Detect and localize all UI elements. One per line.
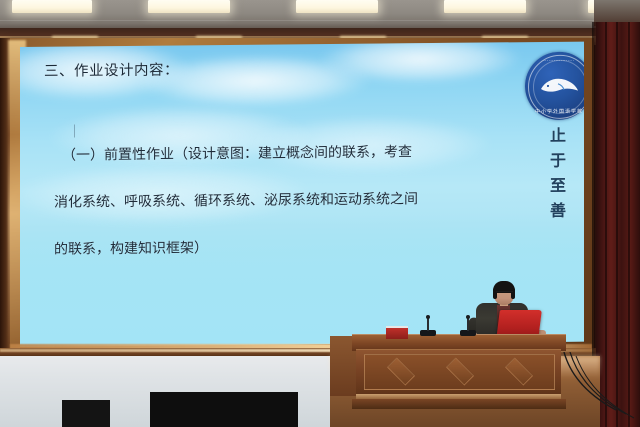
floor-cables — [560, 352, 640, 427]
emblem-top-text: ·················· — [525, 57, 584, 63]
motto-left: 止于至善 — [544, 127, 568, 227]
microphone-stem — [467, 317, 469, 331]
ceiling-seam — [0, 20, 640, 21]
slide-line: 的联系，构建知识框架） — [54, 222, 524, 274]
slide-title: 三、作业设计内容： — [44, 58, 179, 80]
ceiling-light — [296, 0, 378, 13]
emblem-bottom-text: 中小学外国语学校 — [525, 107, 584, 115]
red-nameplate — [386, 326, 408, 339]
ceiling-light — [444, 0, 526, 13]
motto-right: 自我超越 — [582, 221, 584, 321]
presenter-glasses — [496, 291, 513, 295]
ceiling-light — [148, 0, 230, 13]
slide-line: 消化系统、呼吸系统、循环系统、泌尿系统和运动系统之间 — [54, 175, 524, 227]
stage-object — [62, 400, 110, 427]
microphone-stem — [427, 317, 429, 331]
slide-body: （一）前置性作业（设计意图：建立概念间的联系，考查 消化系统、呼吸系统、循环系统… — [54, 128, 524, 274]
school-emblem: ·················· 中小学外国语学校 — [525, 51, 584, 120]
lecture-hall-scene: 三、作业设计内容： （一）前置性作业（设计意图：建立概念间的联系，考查 消化系统… — [0, 0, 640, 427]
podium-base — [352, 399, 566, 409]
stage-object — [150, 392, 298, 427]
emblem-bird-icon — [538, 74, 580, 98]
slide-line: （一）前置性作业（设计意图：建立概念间的联系，考查 — [54, 128, 524, 180]
cloud-wisp — [320, 42, 520, 85]
ceiling-light — [12, 0, 92, 13]
microphone-head — [466, 315, 470, 319]
microphone-head — [426, 315, 430, 319]
